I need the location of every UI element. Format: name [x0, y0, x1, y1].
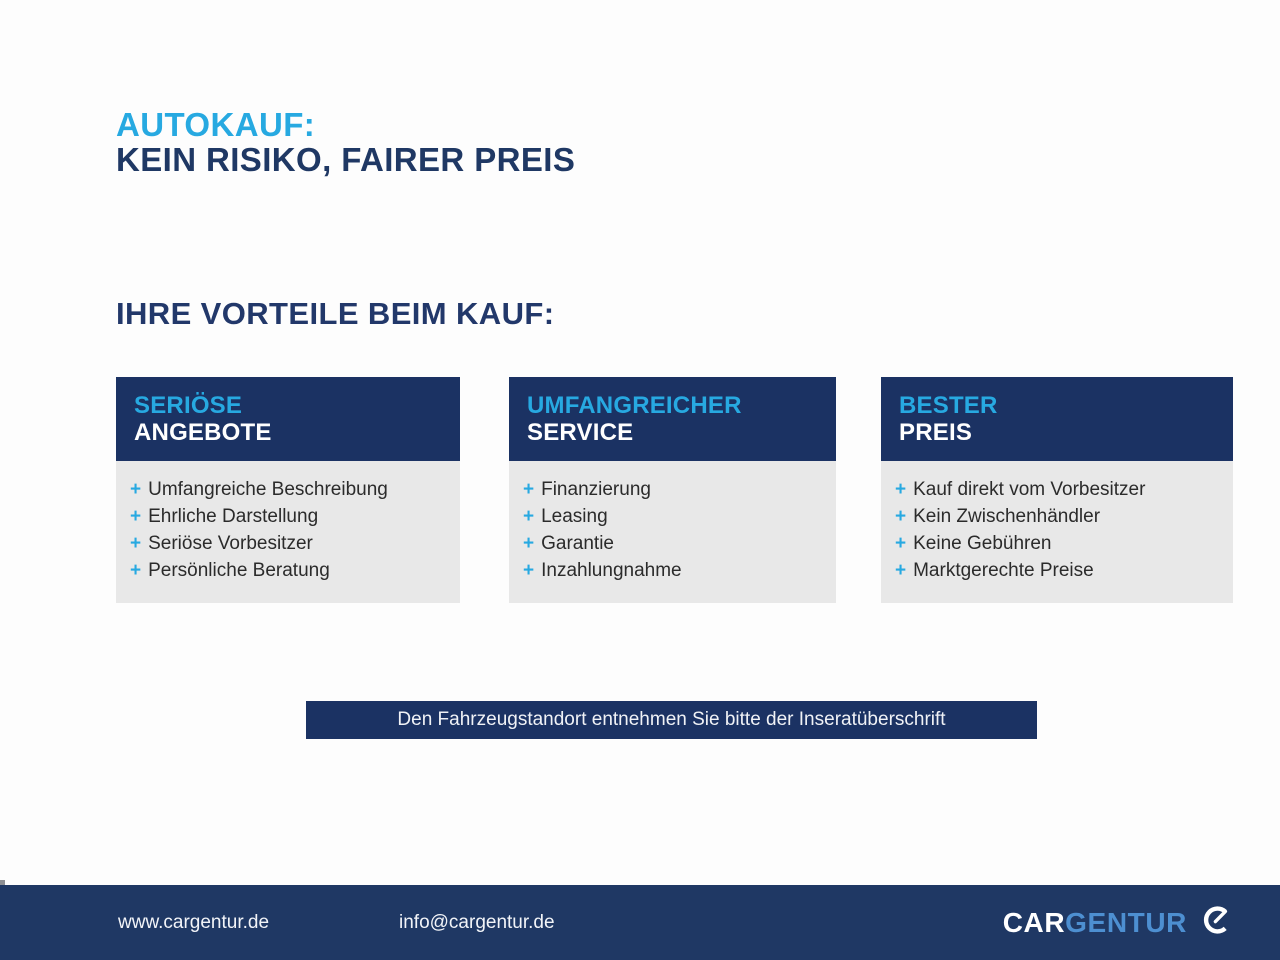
plus-icon: +: [130, 558, 141, 585]
plus-icon: +: [895, 531, 906, 558]
brand-wordmark-part-a: CAR: [1003, 907, 1065, 938]
list-item: + Keine Gebühren: [895, 531, 1219, 558]
footer-website-link[interactable]: www.cargentur.de: [118, 912, 269, 934]
card-body: + Kauf direkt vom Vorbesitzer + Kein Zwi…: [881, 461, 1233, 603]
list-item: + Umfangreiche Beschreibung: [130, 477, 446, 504]
card-body: + Finanzierung + Leasing + Garantie + In…: [509, 461, 836, 603]
card-header-accent-line: BESTER: [899, 393, 1215, 420]
brand-wordmark-part-b: GENTUR: [1065, 907, 1187, 938]
plus-icon: +: [523, 504, 534, 531]
card-body: + Umfangreiche Beschreibung + Ehrliche D…: [116, 461, 460, 603]
list-item-label: Finanzierung: [541, 477, 651, 504]
headline-line-primary: AUTOKAUF:: [116, 108, 575, 143]
list-item: + Finanzierung: [523, 477, 822, 504]
card-header-accent-line: SERIÖSE: [134, 393, 442, 420]
list-item-label: Leasing: [541, 504, 608, 531]
card-header-main-line: ANGEBOTE: [134, 420, 442, 447]
list-item-label: Keine Gebühren: [913, 531, 1051, 558]
headline-line-secondary: KEIN RISIKO, FAIRER PREIS: [116, 143, 575, 178]
card-header: UMFANGREICHER SERVICE: [509, 377, 836, 461]
plus-icon: +: [523, 477, 534, 504]
location-note-banner: Den Fahrzeugstandort entnehmen Sie bitte…: [306, 701, 1037, 739]
list-item: + Kauf direkt vom Vorbesitzer: [895, 477, 1219, 504]
card-header: BESTER PREIS: [881, 377, 1233, 461]
list-item-label: Ehrliche Darstellung: [148, 504, 318, 531]
section-title-benefits: IHRE VORTEILE BEIM KAUF:: [116, 296, 554, 332]
list-item: + Ehrliche Darstellung: [130, 504, 446, 531]
plus-icon: +: [130, 531, 141, 558]
card-header: SERIÖSE ANGEBOTE: [116, 377, 460, 461]
benefit-card-umfangreicher-service: UMFANGREICHER SERVICE + Finanzierung + L…: [509, 377, 836, 603]
plus-icon: +: [130, 477, 141, 504]
feature-list: + Kauf direkt vom Vorbesitzer + Kein Zwi…: [895, 477, 1219, 585]
plus-icon: +: [523, 531, 534, 558]
plus-icon: +: [130, 504, 141, 531]
list-item-label: Umfangreiche Beschreibung: [148, 477, 388, 504]
list-item-label: Marktgerechte Preise: [913, 558, 1094, 585]
list-item-label: Kauf direkt vom Vorbesitzer: [913, 477, 1145, 504]
brand-wordmark: CARGENTUR: [1003, 907, 1187, 939]
benefit-card-bester-preis: BESTER PREIS + Kauf direkt vom Vorbesitz…: [881, 377, 1233, 603]
list-item-label: Garantie: [541, 531, 614, 558]
list-item-label: Kein Zwischenhändler: [913, 504, 1100, 531]
list-item: + Persönliche Beratung: [130, 558, 446, 585]
list-item-label: Inzahlungnahme: [541, 558, 682, 585]
card-header-main-line: SERVICE: [527, 420, 818, 447]
card-header-accent-line: UMFANGREICHER: [527, 393, 818, 420]
feature-list: + Umfangreiche Beschreibung + Ehrliche D…: [130, 477, 446, 585]
plus-icon: +: [523, 558, 534, 585]
list-item-label: Persönliche Beratung: [148, 558, 330, 585]
list-item: + Seriöse Vorbesitzer: [130, 531, 446, 558]
plus-icon: +: [895, 477, 906, 504]
benefit-cards-row: SERIÖSE ANGEBOTE + Umfangreiche Beschrei…: [116, 377, 1233, 603]
benefit-card-serioese-angebote: SERIÖSE ANGEBOTE + Umfangreiche Beschrei…: [116, 377, 460, 603]
list-item: + Garantie: [523, 531, 822, 558]
feature-list: + Finanzierung + Leasing + Garantie + In…: [523, 477, 822, 585]
cargentur-c-mark-icon: [1199, 903, 1233, 942]
list-item: + Kein Zwischenhändler: [895, 504, 1219, 531]
brand-logo[interactable]: CARGENTUR: [1003, 903, 1233, 942]
slide-canvas: AUTOKAUF: KEIN RISIKO, FAIRER PREIS IHRE…: [0, 0, 1280, 960]
plus-icon: +: [895, 504, 906, 531]
list-item: + Leasing: [523, 504, 822, 531]
list-item: + Marktgerechte Preise: [895, 558, 1219, 585]
card-header-main-line: PREIS: [899, 420, 1215, 447]
list-item-label: Seriöse Vorbesitzer: [148, 531, 313, 558]
page-footer: www.cargentur.de info@cargentur.de CARGE…: [0, 885, 1280, 960]
page-headline: AUTOKAUF: KEIN RISIKO, FAIRER PREIS: [116, 108, 575, 178]
footer-email-link[interactable]: info@cargentur.de: [399, 912, 555, 934]
plus-icon: +: [895, 558, 906, 585]
list-item: + Inzahlungnahme: [523, 558, 822, 585]
